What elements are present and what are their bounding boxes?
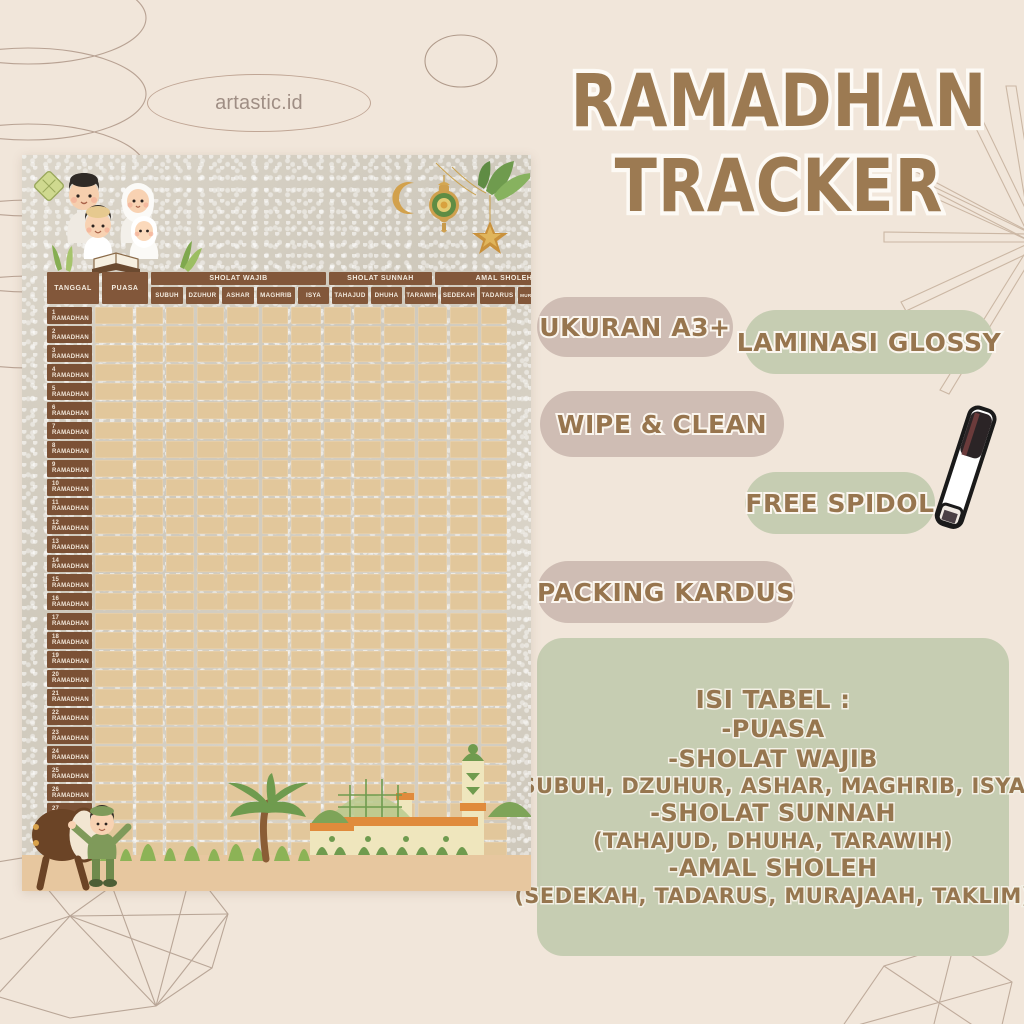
table-checkbox-cell[interactable] — [481, 383, 507, 400]
table-checkbox-cell[interactable] — [95, 670, 134, 687]
table-checkbox-cell[interactable] — [384, 689, 414, 706]
table-checkbox-cell[interactable] — [354, 842, 382, 859]
table-checkbox-cell[interactable] — [481, 613, 507, 630]
table-checkbox-cell[interactable] — [324, 689, 350, 706]
table-checkbox-cell[interactable] — [324, 842, 350, 859]
table-checkbox-cell[interactable] — [291, 479, 321, 496]
table-checkbox-cell[interactable] — [481, 555, 507, 572]
table-checkbox-cell[interactable] — [262, 498, 288, 515]
table-checkbox-cell[interactable] — [227, 307, 259, 324]
table-checkbox-cell[interactable] — [450, 727, 478, 744]
table-checkbox-cell[interactable] — [354, 593, 382, 610]
table-checkbox-cell[interactable] — [95, 364, 134, 381]
table-checkbox-cell[interactable] — [166, 689, 194, 706]
table-checkbox-cell[interactable] — [136, 784, 163, 801]
table-checkbox-cell[interactable] — [418, 479, 447, 496]
table-checkbox-cell[interactable] — [291, 727, 321, 744]
table-checkbox-cell[interactable] — [262, 402, 288, 419]
table-checkbox-cell[interactable] — [450, 402, 478, 419]
table-checkbox-cell[interactable] — [384, 326, 414, 343]
table-checkbox-cell[interactable] — [95, 746, 134, 763]
table-checkbox-cell[interactable] — [384, 803, 414, 820]
table-checkbox-cell[interactable] — [227, 727, 259, 744]
table-checkbox-cell[interactable] — [166, 441, 194, 458]
table-checkbox-cell[interactable] — [227, 823, 259, 840]
table-checkbox-cell[interactable] — [354, 803, 382, 820]
table-checkbox-cell[interactable] — [136, 460, 163, 477]
table-checkbox-cell[interactable] — [197, 574, 224, 591]
table-checkbox-cell[interactable] — [418, 574, 447, 591]
table-checkbox-cell[interactable] — [197, 307, 224, 324]
table-checkbox-cell[interactable] — [324, 574, 350, 591]
table-checkbox-cell[interactable] — [227, 460, 259, 477]
table-checkbox-cell[interactable] — [418, 670, 447, 687]
table-checkbox-cell[interactable] — [324, 345, 350, 362]
table-checkbox-cell[interactable] — [354, 727, 382, 744]
table-checkbox-cell[interactable] — [291, 402, 321, 419]
table-checkbox-cell[interactable] — [166, 479, 194, 496]
table-checkbox-cell[interactable] — [136, 651, 163, 668]
table-checkbox-cell[interactable] — [384, 307, 414, 324]
table-checkbox-cell[interactable] — [324, 364, 350, 381]
table-checkbox-cell[interactable] — [227, 708, 259, 725]
table-checkbox-cell[interactable] — [197, 689, 224, 706]
table-checkbox-cell[interactable] — [324, 861, 350, 878]
table-checkbox-cell[interactable] — [450, 326, 478, 343]
table-checkbox-cell[interactable] — [384, 441, 414, 458]
table-checkbox-cell[interactable] — [291, 555, 321, 572]
table-checkbox-cell[interactable] — [262, 326, 288, 343]
table-checkbox-cell[interactable] — [450, 765, 478, 782]
table-checkbox-cell[interactable] — [197, 326, 224, 343]
table-checkbox-cell[interactable] — [227, 689, 259, 706]
table-checkbox-cell[interactable] — [384, 536, 414, 553]
table-checkbox-cell[interactable] — [481, 593, 507, 610]
table-checkbox-cell[interactable] — [197, 383, 224, 400]
table-checkbox-cell[interactable] — [324, 593, 350, 610]
table-checkbox-cell[interactable] — [227, 593, 259, 610]
table-checkbox-cell[interactable] — [166, 613, 194, 630]
table-checkbox-cell[interactable] — [197, 708, 224, 725]
table-checkbox-cell[interactable] — [450, 746, 478, 763]
table-checkbox-cell[interactable] — [354, 670, 382, 687]
table-checkbox-cell[interactable] — [227, 517, 259, 534]
table-checkbox-cell[interactable] — [291, 632, 321, 649]
table-checkbox-cell[interactable] — [418, 823, 447, 840]
table-checkbox-cell[interactable] — [418, 708, 447, 725]
table-checkbox-cell[interactable] — [384, 823, 414, 840]
table-checkbox-cell[interactable] — [384, 842, 414, 859]
table-checkbox-cell[interactable] — [166, 364, 194, 381]
table-checkbox-cell[interactable] — [197, 651, 224, 668]
table-checkbox-cell[interactable] — [197, 536, 224, 553]
table-checkbox-cell[interactable] — [291, 517, 321, 534]
table-checkbox-cell[interactable] — [136, 765, 163, 782]
table-checkbox-cell[interactable] — [384, 765, 414, 782]
table-checkbox-cell[interactable] — [227, 326, 259, 343]
table-checkbox-cell[interactable] — [384, 708, 414, 725]
table-checkbox-cell[interactable] — [136, 498, 163, 515]
table-checkbox-cell[interactable] — [450, 593, 478, 610]
table-checkbox-cell[interactable] — [384, 746, 414, 763]
table-checkbox-cell[interactable] — [418, 422, 447, 439]
table-checkbox-cell[interactable] — [166, 307, 194, 324]
table-checkbox-cell[interactable] — [481, 727, 507, 744]
table-checkbox-cell[interactable] — [291, 842, 321, 859]
table-checkbox-cell[interactable] — [262, 842, 288, 859]
table-checkbox-cell[interactable] — [166, 402, 194, 419]
table-checkbox-cell[interactable] — [291, 823, 321, 840]
table-checkbox-cell[interactable] — [481, 823, 507, 840]
table-checkbox-cell[interactable] — [384, 632, 414, 649]
table-checkbox-cell[interactable] — [262, 307, 288, 324]
table-checkbox-cell[interactable] — [481, 326, 507, 343]
table-checkbox-cell[interactable] — [354, 326, 382, 343]
table-checkbox-cell[interactable] — [197, 345, 224, 362]
table-checkbox-cell[interactable] — [354, 555, 382, 572]
table-checkbox-cell[interactable] — [262, 517, 288, 534]
table-checkbox-cell[interactable] — [354, 479, 382, 496]
table-checkbox-cell[interactable] — [324, 326, 350, 343]
table-checkbox-cell[interactable] — [227, 765, 259, 782]
table-checkbox-cell[interactable] — [227, 574, 259, 591]
table-checkbox-cell[interactable] — [291, 861, 321, 878]
table-checkbox-cell[interactable] — [354, 383, 382, 400]
table-checkbox-cell[interactable] — [136, 536, 163, 553]
table-checkbox-cell[interactable] — [262, 689, 288, 706]
table-checkbox-cell[interactable] — [354, 402, 382, 419]
table-checkbox-cell[interactable] — [166, 823, 194, 840]
table-checkbox-cell[interactable] — [166, 460, 194, 477]
table-checkbox-cell[interactable] — [384, 593, 414, 610]
table-checkbox-cell[interactable] — [384, 555, 414, 572]
table-checkbox-cell[interactable] — [354, 746, 382, 763]
table-checkbox-cell[interactable] — [324, 632, 350, 649]
table-checkbox-cell[interactable] — [227, 746, 259, 763]
table-checkbox-cell[interactable] — [95, 689, 134, 706]
table-checkbox-cell[interactable] — [418, 517, 447, 534]
table-checkbox-cell[interactable] — [384, 422, 414, 439]
table-checkbox-cell[interactable] — [227, 345, 259, 362]
table-checkbox-cell[interactable] — [262, 574, 288, 591]
table-checkbox-cell[interactable] — [418, 727, 447, 744]
table-checkbox-cell[interactable] — [450, 460, 478, 477]
table-checkbox-cell[interactable] — [95, 402, 134, 419]
table-checkbox-cell[interactable] — [354, 422, 382, 439]
table-checkbox-cell[interactable] — [95, 842, 134, 859]
table-checkbox-cell[interactable] — [197, 727, 224, 744]
table-checkbox-cell[interactable] — [354, 784, 382, 801]
table-checkbox-cell[interactable] — [136, 593, 163, 610]
table-checkbox-cell[interactable] — [95, 784, 134, 801]
table-checkbox-cell[interactable] — [354, 441, 382, 458]
table-checkbox-cell[interactable] — [418, 632, 447, 649]
table-checkbox-cell[interactable] — [450, 536, 478, 553]
table-checkbox-cell[interactable] — [227, 498, 259, 515]
table-checkbox-cell[interactable] — [95, 803, 134, 820]
table-checkbox-cell[interactable] — [166, 708, 194, 725]
table-checkbox-cell[interactable] — [450, 613, 478, 630]
table-checkbox-cell[interactable] — [166, 555, 194, 572]
table-checkbox-cell[interactable] — [450, 670, 478, 687]
table-checkbox-cell[interactable] — [354, 708, 382, 725]
table-checkbox-cell[interactable] — [324, 536, 350, 553]
table-checkbox-cell[interactable] — [324, 460, 350, 477]
table-checkbox-cell[interactable] — [481, 670, 507, 687]
table-checkbox-cell[interactable] — [227, 383, 259, 400]
table-checkbox-cell[interactable] — [418, 613, 447, 630]
table-checkbox-cell[interactable] — [262, 345, 288, 362]
table-checkbox-cell[interactable] — [262, 536, 288, 553]
table-checkbox-cell[interactable] — [166, 861, 194, 878]
table-checkbox-cell[interactable] — [481, 708, 507, 725]
table-checkbox-cell[interactable] — [262, 803, 288, 820]
table-checkbox-cell[interactable] — [418, 746, 447, 763]
table-checkbox-cell[interactable] — [262, 555, 288, 572]
table-checkbox-cell[interactable] — [166, 727, 194, 744]
table-checkbox-cell[interactable] — [95, 708, 134, 725]
table-checkbox-cell[interactable] — [354, 651, 382, 668]
table-checkbox-cell[interactable] — [324, 383, 350, 400]
table-checkbox-cell[interactable] — [166, 326, 194, 343]
table-checkbox-cell[interactable] — [227, 670, 259, 687]
table-checkbox-cell[interactable] — [418, 326, 447, 343]
table-checkbox-cell[interactable] — [262, 441, 288, 458]
table-checkbox-cell[interactable] — [324, 517, 350, 534]
table-checkbox-cell[interactable] — [481, 422, 507, 439]
table-checkbox-cell[interactable] — [324, 803, 350, 820]
table-checkbox-cell[interactable] — [481, 479, 507, 496]
table-checkbox-cell[interactable] — [95, 441, 134, 458]
table-checkbox-cell[interactable] — [262, 422, 288, 439]
table-checkbox-cell[interactable] — [227, 555, 259, 572]
table-checkbox-cell[interactable] — [95, 517, 134, 534]
table-checkbox-cell[interactable] — [354, 613, 382, 630]
table-checkbox-cell[interactable] — [166, 517, 194, 534]
table-checkbox-cell[interactable] — [450, 632, 478, 649]
table-checkbox-cell[interactable] — [450, 422, 478, 439]
table-checkbox-cell[interactable] — [291, 670, 321, 687]
table-checkbox-cell[interactable] — [354, 307, 382, 324]
table-checkbox-cell[interactable] — [450, 651, 478, 668]
table-checkbox-cell[interactable] — [227, 402, 259, 419]
table-checkbox-cell[interactable] — [354, 861, 382, 878]
table-checkbox-cell[interactable] — [197, 364, 224, 381]
table-checkbox-cell[interactable] — [136, 689, 163, 706]
table-checkbox-cell[interactable] — [262, 823, 288, 840]
table-checkbox-cell[interactable] — [418, 402, 447, 419]
table-checkbox-cell[interactable] — [197, 823, 224, 840]
table-checkbox-cell[interactable] — [136, 517, 163, 534]
table-checkbox-cell[interactable] — [197, 861, 224, 878]
table-checkbox-cell[interactable] — [291, 383, 321, 400]
table-checkbox-cell[interactable] — [418, 441, 447, 458]
table-checkbox-cell[interactable] — [291, 536, 321, 553]
table-checkbox-cell[interactable] — [324, 651, 350, 668]
table-checkbox-cell[interactable] — [384, 613, 414, 630]
table-checkbox-cell[interactable] — [384, 784, 414, 801]
table-checkbox-cell[interactable] — [197, 593, 224, 610]
table-checkbox-cell[interactable] — [384, 574, 414, 591]
table-checkbox-cell[interactable] — [324, 708, 350, 725]
table-checkbox-cell[interactable] — [262, 708, 288, 725]
table-checkbox-cell[interactable] — [324, 727, 350, 744]
table-checkbox-cell[interactable] — [324, 555, 350, 572]
table-checkbox-cell[interactable] — [227, 613, 259, 630]
table-checkbox-cell[interactable] — [291, 765, 321, 782]
table-checkbox-cell[interactable] — [481, 784, 507, 801]
table-checkbox-cell[interactable] — [166, 842, 194, 859]
table-checkbox-cell[interactable] — [291, 326, 321, 343]
table-checkbox-cell[interactable] — [418, 498, 447, 515]
table-checkbox-cell[interactable] — [227, 441, 259, 458]
table-checkbox-cell[interactable] — [418, 307, 447, 324]
table-checkbox-cell[interactable] — [418, 383, 447, 400]
table-checkbox-cell[interactable] — [450, 383, 478, 400]
table-checkbox-cell[interactable] — [166, 670, 194, 687]
table-checkbox-cell[interactable] — [227, 422, 259, 439]
table-checkbox-cell[interactable] — [354, 345, 382, 362]
table-checkbox-cell[interactable] — [136, 422, 163, 439]
table-checkbox-cell[interactable] — [291, 345, 321, 362]
table-checkbox-cell[interactable] — [481, 842, 507, 859]
table-checkbox-cell[interactable] — [95, 823, 134, 840]
table-checkbox-cell[interactable] — [450, 689, 478, 706]
table-checkbox-cell[interactable] — [450, 861, 478, 878]
table-checkbox-cell[interactable] — [262, 861, 288, 878]
table-checkbox-cell[interactable] — [166, 746, 194, 763]
table-checkbox-cell[interactable] — [291, 651, 321, 668]
table-checkbox-cell[interactable] — [291, 460, 321, 477]
table-checkbox-cell[interactable] — [450, 555, 478, 572]
table-checkbox-cell[interactable] — [354, 364, 382, 381]
table-checkbox-cell[interactable] — [197, 441, 224, 458]
table-checkbox-cell[interactable] — [384, 345, 414, 362]
table-checkbox-cell[interactable] — [227, 651, 259, 668]
table-checkbox-cell[interactable] — [166, 383, 194, 400]
table-checkbox-cell[interactable] — [136, 402, 163, 419]
table-checkbox-cell[interactable] — [324, 670, 350, 687]
table-checkbox-cell[interactable] — [291, 441, 321, 458]
table-checkbox-cell[interactable] — [136, 823, 163, 840]
table-checkbox-cell[interactable] — [166, 784, 194, 801]
table-checkbox-cell[interactable] — [166, 422, 194, 439]
table-checkbox-cell[interactable] — [136, 727, 163, 744]
table-checkbox-cell[interactable] — [418, 861, 447, 878]
table-checkbox-cell[interactable] — [418, 842, 447, 859]
table-checkbox-cell[interactable] — [291, 613, 321, 630]
table-checkbox-cell[interactable] — [262, 613, 288, 630]
table-checkbox-cell[interactable] — [481, 307, 507, 324]
table-checkbox-cell[interactable] — [136, 708, 163, 725]
table-checkbox-cell[interactable] — [481, 689, 507, 706]
table-checkbox-cell[interactable] — [95, 574, 134, 591]
table-checkbox-cell[interactable] — [136, 632, 163, 649]
table-checkbox-cell[interactable] — [197, 746, 224, 763]
table-checkbox-cell[interactable] — [95, 307, 134, 324]
table-checkbox-cell[interactable] — [166, 632, 194, 649]
table-checkbox-cell[interactable] — [481, 632, 507, 649]
table-checkbox-cell[interactable] — [384, 651, 414, 668]
table-checkbox-cell[interactable] — [95, 460, 134, 477]
table-checkbox-cell[interactable] — [418, 593, 447, 610]
table-checkbox-cell[interactable] — [197, 632, 224, 649]
table-checkbox-cell[interactable] — [291, 803, 321, 820]
table-checkbox-cell[interactable] — [95, 593, 134, 610]
table-checkbox-cell[interactable] — [262, 746, 288, 763]
table-checkbox-cell[interactable] — [227, 861, 259, 878]
table-checkbox-cell[interactable] — [354, 765, 382, 782]
table-checkbox-cell[interactable] — [262, 765, 288, 782]
table-checkbox-cell[interactable] — [95, 383, 134, 400]
table-checkbox-cell[interactable] — [418, 345, 447, 362]
table-checkbox-cell[interactable] — [197, 517, 224, 534]
table-checkbox-cell[interactable] — [136, 364, 163, 381]
table-checkbox-cell[interactable] — [166, 345, 194, 362]
table-checkbox-cell[interactable] — [418, 803, 447, 820]
table-checkbox-cell[interactable] — [324, 498, 350, 515]
table-checkbox-cell[interactable] — [291, 422, 321, 439]
table-checkbox-cell[interactable] — [262, 593, 288, 610]
table-checkbox-cell[interactable] — [197, 765, 224, 782]
table-checkbox-cell[interactable] — [481, 651, 507, 668]
table-checkbox-cell[interactable] — [324, 784, 350, 801]
table-checkbox-cell[interactable] — [227, 842, 259, 859]
table-checkbox-cell[interactable] — [262, 632, 288, 649]
table-checkbox-cell[interactable] — [324, 441, 350, 458]
table-checkbox-cell[interactable] — [136, 746, 163, 763]
table-checkbox-cell[interactable] — [262, 727, 288, 744]
table-checkbox-cell[interactable] — [418, 765, 447, 782]
table-checkbox-cell[interactable] — [384, 402, 414, 419]
table-checkbox-cell[interactable] — [324, 479, 350, 496]
table-checkbox-cell[interactable] — [354, 632, 382, 649]
table-checkbox-cell[interactable] — [384, 383, 414, 400]
table-checkbox-cell[interactable] — [450, 479, 478, 496]
table-checkbox-cell[interactable] — [354, 823, 382, 840]
table-checkbox-cell[interactable] — [166, 803, 194, 820]
table-checkbox-cell[interactable] — [136, 479, 163, 496]
table-checkbox-cell[interactable] — [136, 383, 163, 400]
table-checkbox-cell[interactable] — [197, 402, 224, 419]
table-checkbox-cell[interactable] — [481, 746, 507, 763]
table-checkbox-cell[interactable] — [291, 574, 321, 591]
table-checkbox-cell[interactable] — [197, 498, 224, 515]
table-checkbox-cell[interactable] — [450, 708, 478, 725]
table-checkbox-cell[interactable] — [481, 765, 507, 782]
table-checkbox-cell[interactable] — [136, 803, 163, 820]
table-checkbox-cell[interactable] — [166, 765, 194, 782]
table-checkbox-cell[interactable] — [136, 574, 163, 591]
table-checkbox-cell[interactable] — [136, 613, 163, 630]
table-checkbox-cell[interactable] — [481, 536, 507, 553]
table-checkbox-cell[interactable] — [481, 364, 507, 381]
table-checkbox-cell[interactable] — [481, 460, 507, 477]
table-checkbox-cell[interactable] — [324, 422, 350, 439]
table-checkbox-cell[interactable] — [324, 823, 350, 840]
table-checkbox-cell[interactable] — [384, 517, 414, 534]
table-checkbox-cell[interactable] — [197, 422, 224, 439]
table-checkbox-cell[interactable] — [262, 383, 288, 400]
table-checkbox-cell[interactable] — [166, 593, 194, 610]
table-checkbox-cell[interactable] — [197, 842, 224, 859]
table-checkbox-cell[interactable] — [166, 651, 194, 668]
table-checkbox-cell[interactable] — [324, 307, 350, 324]
table-checkbox-cell[interactable] — [95, 422, 134, 439]
table-checkbox-cell[interactable] — [262, 784, 288, 801]
table-checkbox-cell[interactable] — [354, 574, 382, 591]
table-checkbox-cell[interactable] — [291, 593, 321, 610]
